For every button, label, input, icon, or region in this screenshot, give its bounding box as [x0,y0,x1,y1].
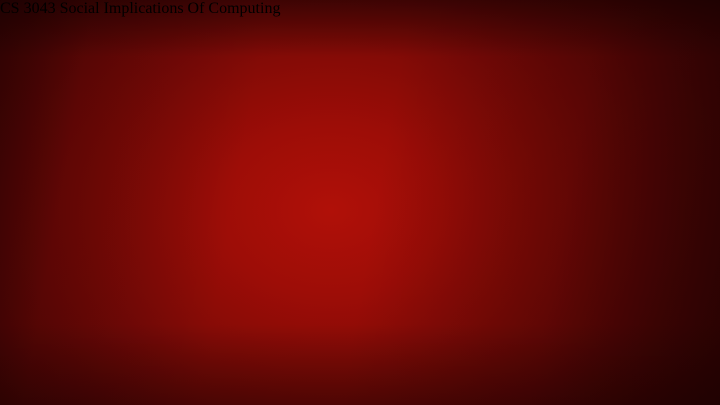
presentation-slide: CS 3043 Social Implications Of Computing… [0,0,720,405]
slide-background-vignette [0,0,720,405]
slide-header-bar: CS 3043 Social Implications Of Computing [0,0,720,29]
course-title: CS 3043 Social Implications Of Computing [0,0,720,18]
